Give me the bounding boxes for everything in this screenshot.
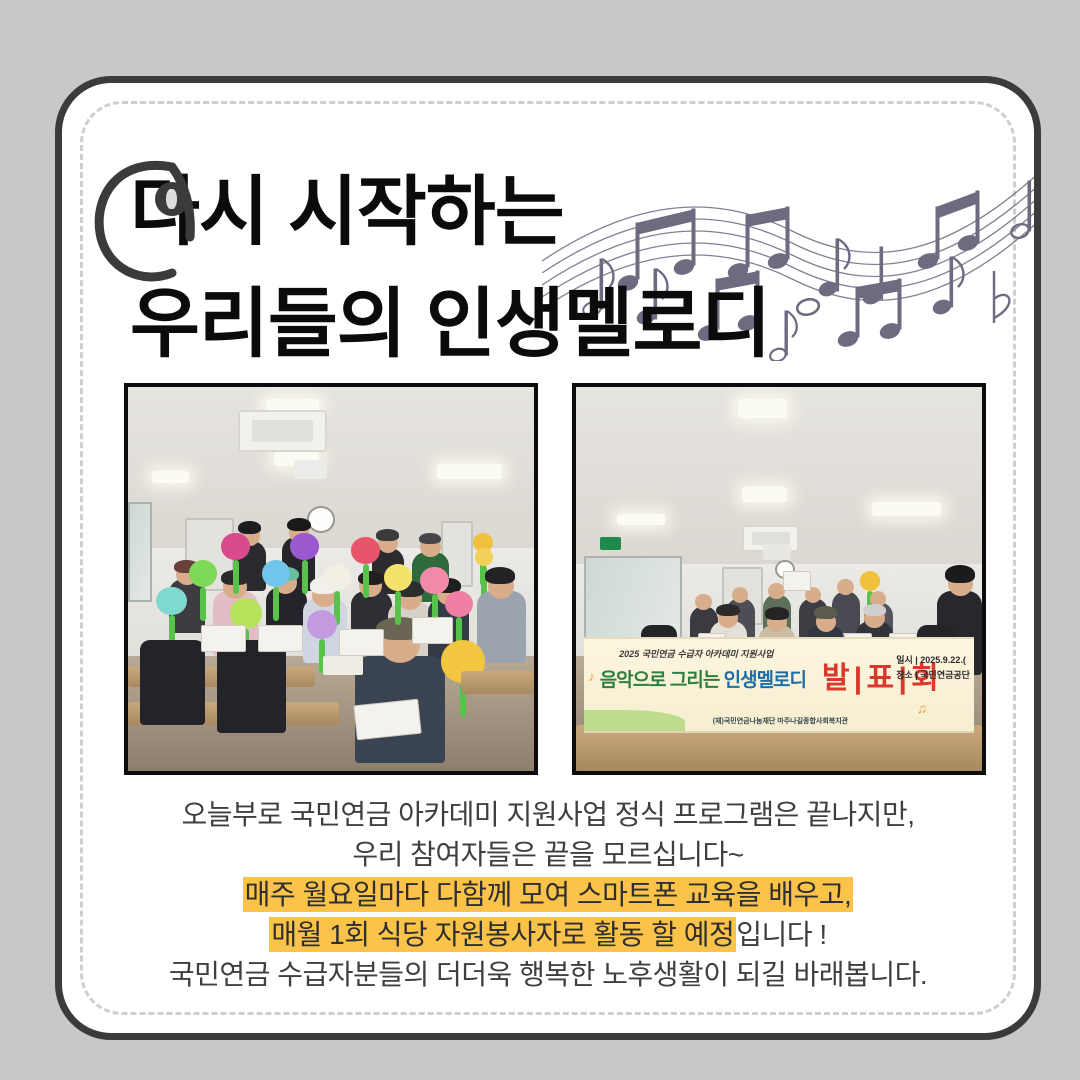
- poster-card: 다시 시작하는 우리들의 인생멜로디: [55, 76, 1041, 1040]
- banner-info: 일시 | 2025.9.22.( 장소 | 국민연금공단: [896, 653, 970, 683]
- body-line: 우리 참여자들은 끝을 모르십니다~: [62, 835, 1034, 875]
- banner-subtitle: 2025 국민연금 수급자 아카데미 지원사업: [619, 647, 773, 660]
- body-text-segment: 입니다 !: [736, 919, 826, 950]
- body-line: 국민연금 수급자분들의 더더욱 행복한 노후생활이 되길 바래봅니다.: [62, 955, 1034, 995]
- banner-logos: (재)국민연금나눔재단 마주나길종합사회복지관: [713, 716, 848, 726]
- body-text-segment-highlighted: 매주 월요일마다 다함께 모여 스마트폰 교육을 배우고,: [243, 877, 854, 912]
- banner-main-title: 음악으로 그리는 인생멜로디: [600, 665, 806, 692]
- banner-date: 일시 | 2025.9.22.(: [896, 653, 970, 668]
- photo-gallery: ♪ 2025 국민연금 수급자 아카데미 지원사업 음악으로 그리는 인생멜로디…: [124, 383, 986, 775]
- body-line: 매주 월요일마다 다함께 모여 스마트폰 교육을 배우고,: [62, 875, 1034, 915]
- binder-ring-icon: [80, 141, 260, 311]
- classroom-group-photo-left: [124, 383, 538, 775]
- body-line: 매월 1회 식당 자원봉사자로 활동 할 예정입니다 !: [62, 915, 1034, 955]
- event-banner: ♪ 2025 국민연금 수급자 아카데미 지원사업 음악으로 그리는 인생멜로디…: [584, 637, 974, 733]
- binder-ring-eyelet-icon: [155, 182, 189, 216]
- banner-place: 장소 | 국민연금공단: [896, 668, 970, 683]
- body-text-segment: 국민연금 수급자분들의 더더욱 행복한 노후생활이 되길 바래봅니다.: [169, 959, 927, 990]
- body-text-block: 오늘부로 국민연금 아카데미 지원사업 정식 프로그램은 끝나지만, 우리 참여…: [62, 795, 1034, 995]
- body-text-segment-highlighted: 매월 1회 식당 자원봉사자로 활동 할 예정: [269, 917, 736, 952]
- body-text-segment: 우리 참여자들은 끝을 모르십니다~: [352, 839, 743, 870]
- body-text-segment: 오늘부로 국민연금 아카데미 지원사업 정식 프로그램은 끝나지만,: [182, 799, 915, 830]
- classroom-group-photo-right: ♪ 2025 국민연금 수급자 아카데미 지원사업 음악으로 그리는 인생멜로디…: [572, 383, 986, 775]
- body-line: 오늘부로 국민연금 아카데미 지원사업 정식 프로그램은 끝나지만,: [62, 795, 1034, 835]
